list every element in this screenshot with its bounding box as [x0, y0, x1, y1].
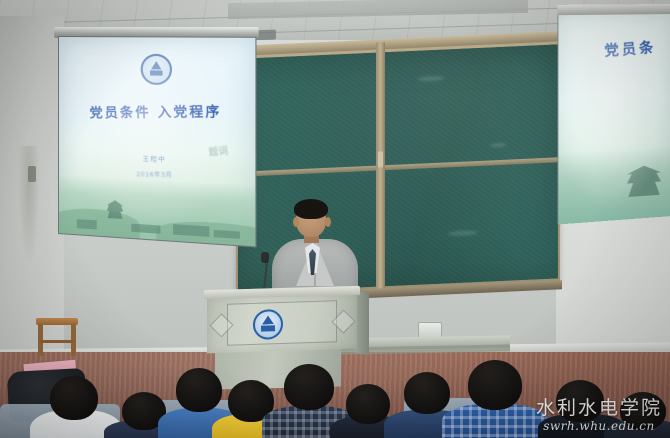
audience-head: [468, 360, 522, 410]
speaker-ear: [293, 217, 299, 227]
audience-head: [176, 368, 222, 412]
lecture-hall-photo: 党员条件 入党程序 王程中 2016年3月 题词 党员条: [0, 0, 670, 438]
audience-head: [620, 392, 666, 430]
slide-landscape-image-right: [558, 146, 670, 225]
stool-crossbar: [40, 340, 74, 343]
wooden-stool: [36, 318, 78, 358]
microphone-head-icon: [261, 252, 269, 263]
projected-slide: 党员条件 入党程序 王程中 2016年3月 题词: [58, 36, 257, 247]
wall-hook-icon: [28, 166, 36, 182]
audience-member: [612, 392, 670, 438]
speaker-hair: [294, 199, 328, 219]
audience-member: [36, 376, 112, 438]
slide-pagoda-icon: [627, 165, 661, 197]
slide-pagoda-icon: [107, 200, 123, 219]
wall-stain: [18, 146, 40, 266]
slide-title-right: 党员条: [604, 37, 657, 61]
audience-member: [452, 360, 538, 438]
projection-screen-right: 党员条: [557, 14, 670, 225]
projection-screen-left: 党员条件 入党程序 王程中 2016年3月 题词: [58, 36, 254, 245]
slide-hill: [58, 206, 140, 238]
slide-building: [77, 219, 97, 229]
projected-slide-right: 党员条: [557, 14, 670, 225]
audience-head: [556, 380, 604, 422]
audience-head: [50, 376, 98, 420]
podium-front-panel: [207, 293, 357, 354]
chalkboard-latch: [378, 151, 383, 167]
audience-head: [284, 364, 334, 410]
podium-side: [355, 291, 369, 356]
audience-head: [346, 384, 390, 424]
audience-head: [404, 372, 450, 414]
slide-title: 党员条件 入党程序: [59, 100, 256, 122]
slide-landscape-image: [59, 175, 255, 246]
slide-emblem-icon: [141, 54, 172, 85]
speaker-ear: [325, 217, 331, 227]
